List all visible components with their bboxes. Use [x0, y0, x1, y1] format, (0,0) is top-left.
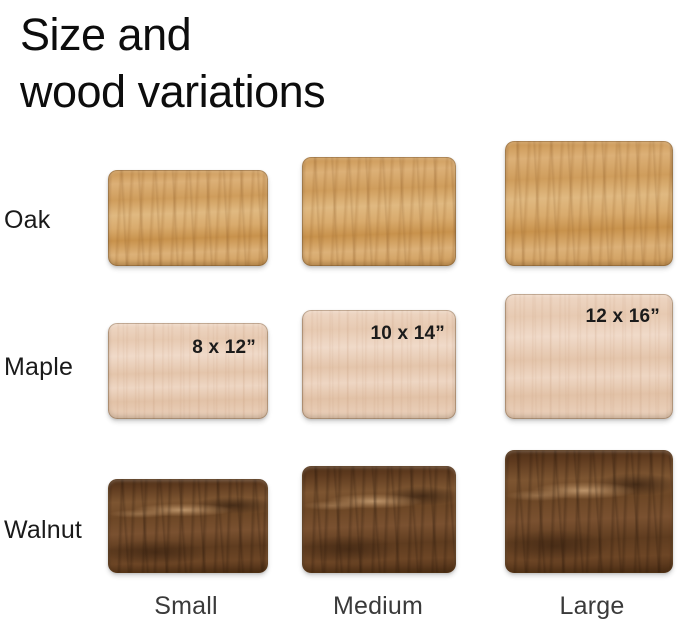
board-walnut-medium[interactable] — [302, 466, 456, 573]
wood-grain-walnut — [302, 466, 456, 573]
dimension-label-medium: 10 x 14” — [371, 323, 446, 345]
wood-grain-oak — [108, 170, 268, 266]
wood-grain-walnut — [108, 479, 268, 573]
row-label-walnut: Walnut — [4, 516, 104, 545]
dimension-label-small: 8 x 12” — [192, 337, 256, 359]
row-label-oak: Oak — [4, 206, 104, 235]
wood-grain-walnut — [505, 450, 673, 573]
board-oak-medium[interactable] — [302, 157, 456, 266]
board-walnut-small[interactable] — [108, 479, 268, 573]
wood-grain-oak — [505, 141, 673, 266]
page-title: Size and wood variations — [20, 6, 580, 120]
board-walnut-large[interactable] — [505, 450, 673, 573]
board-maple-small[interactable]: 8 x 12” — [108, 323, 268, 419]
board-maple-medium[interactable]: 10 x 14” — [302, 310, 456, 419]
row-label-maple: Maple — [4, 353, 104, 382]
dimension-label-large: 12 x 16” — [586, 306, 661, 328]
wood-grain-oak — [302, 157, 456, 266]
board-maple-large[interactable]: 12 x 16” — [505, 294, 673, 419]
column-label-small: Small — [126, 592, 246, 621]
column-label-medium: Medium — [318, 592, 438, 621]
board-oak-large[interactable] — [505, 141, 673, 266]
column-label-large: Large — [532, 592, 652, 621]
board-oak-small[interactable] — [108, 170, 268, 266]
